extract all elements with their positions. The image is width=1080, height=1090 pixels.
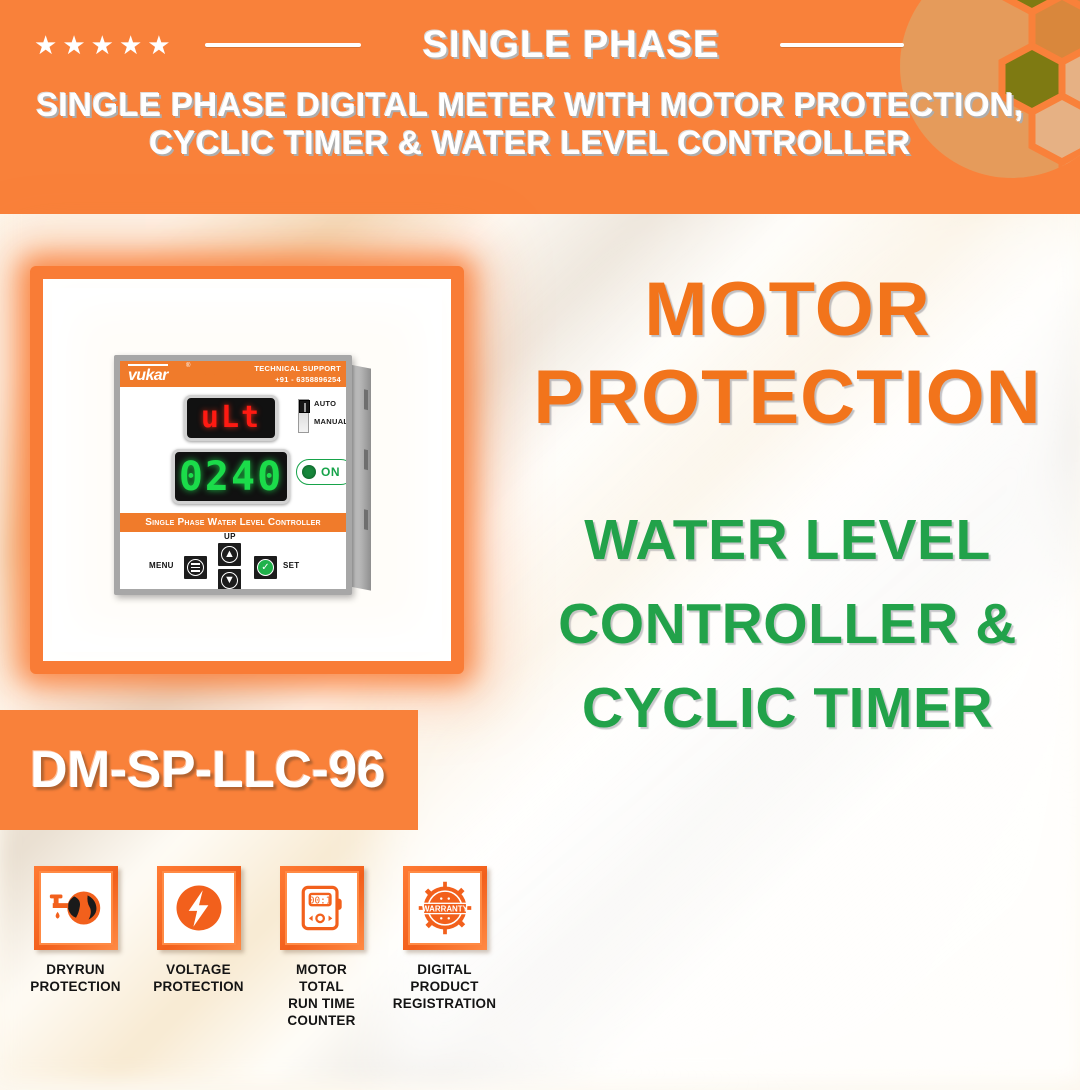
feature-icon-box [34,866,118,950]
tap-globe-icon [45,877,107,939]
check-icon: ✓ [257,559,274,576]
support-label: TECHNICAL SUPPORT [228,363,341,374]
status-indicator-label: ON [321,465,340,479]
support-phone: +91 - 6358896254 [228,374,341,385]
set-button-label: SET [283,561,299,570]
feature-label: VOLTAGEPROTECTION [153,961,244,995]
status-indicator-on: ON [296,459,346,485]
feature-item-dryrun-protection: DRYRUNPROTECTION [14,866,137,1029]
lightning-bolt-icon [169,878,229,938]
switch-rail[interactable] [298,399,309,433]
switch-label-manual: MANUAL [314,417,346,426]
technical-support-block: TECHNICAL SUPPORT +91 - 6358896254 [228,361,346,387]
status-led-icon [302,465,316,479]
feature-item-runtime-counter: 00:1 MOTORTOTALRUN TIMECOUNTER [260,866,383,1029]
feature-label: MOTORTOTALRUN TIMECOUNTER [287,961,355,1029]
feature-item-voltage-protection: VOLTAGEPROTECTION [137,866,260,1029]
menu-button[interactable] [184,556,207,579]
up-button[interactable]: ▲ [218,543,241,566]
menu-button-label: MENU [149,561,174,570]
star-icon: ★ [119,32,142,58]
auto-manual-switch[interactable]: AUTO MANUAL [298,397,346,437]
svg-text:WARRANTY: WARRANTY [422,904,469,913]
star-icon: ★ [34,32,57,58]
chevron-down-icon: ▼ [221,572,238,589]
device-button-row: MENU UP ▲ ▼ DOWN ✓ SET [120,537,346,589]
switch-knob[interactable] [299,400,310,413]
set-button[interactable]: ✓ [254,556,277,579]
feature-list: DRYRUNPROTECTION VOLTAGEPROTECTION 00:1 [14,866,514,1029]
feature-icon-box [157,866,241,950]
chevron-up-icon: ▲ [221,546,238,563]
star-icon: ★ [91,32,114,58]
feature-item-product-registration: WARRANTY DIGITALPRODUCTREGISTRATION [383,866,506,1029]
feature-icon-box: 00:1 [280,866,364,950]
warranty-seal-icon: WARRANTY [415,878,475,938]
feature-icon-box: WARRANTY [403,866,487,950]
switch-label-auto: AUTO [314,399,336,408]
timer-counter-icon: 00:1 [292,878,352,938]
divider-line-right [780,43,904,47]
model-number: DM-SP-LLC-96 [30,740,385,800]
device-face: vukar ® TECHNICAL SUPPORT +91 - 63588962… [120,361,346,589]
headline-primary: MOTOR PROTECTION [495,266,1080,442]
feature-label: DIGITALPRODUCTREGISTRATION [393,961,496,1012]
svg-text:00:1: 00:1 [308,895,331,906]
device-body: vukar ® TECHNICAL SUPPORT +91 - 63588962… [114,355,352,595]
trademark-symbol: ® [186,363,190,369]
model-number-banner: DM-SP-LLC-96 [0,710,418,830]
device-name-band: Single Phase Water Level Controller [120,513,346,532]
device-brand-bar: vukar ® TECHNICAL SUPPORT +91 - 63588962… [120,361,346,387]
product-device: vukar ® TECHNICAL SUPPORT +91 - 63588962… [114,355,367,595]
display-top-value: uLt [201,403,261,433]
device-name-text: Single Phase Water Level Controller [145,517,320,528]
display-top: uLt [184,395,278,441]
feature-label: DRYRUNPROTECTION [30,961,121,995]
header-subtitle: SINGLE PHASE DIGITAL METER WITH MOTOR PR… [30,86,1030,162]
headline-secondary: WATER LEVEL CONTROLLER & CYCLIC TIMER [495,498,1080,750]
eyebrow-title: SINGLE PHASE [423,24,720,67]
menu-icon [187,559,204,576]
brand-logo: vukar [128,364,168,385]
display-main-value: 0240 [179,457,283,497]
down-button[interactable]: ▼ [218,569,241,589]
up-button-label: UP [224,532,236,541]
divider-line-left [205,43,361,47]
eyebrow-row: ★ ★ ★ ★ ★ SINGLE PHASE [0,22,1080,68]
star-icon: ★ [147,32,170,58]
display-main: 0240 [172,449,290,504]
star-icon: ★ [62,32,85,58]
header-banner: ★ ★ ★ ★ ★ SINGLE PHASE SINGLE PHASE DIGI… [0,0,1080,214]
star-rating: ★ ★ ★ ★ ★ [34,32,171,58]
